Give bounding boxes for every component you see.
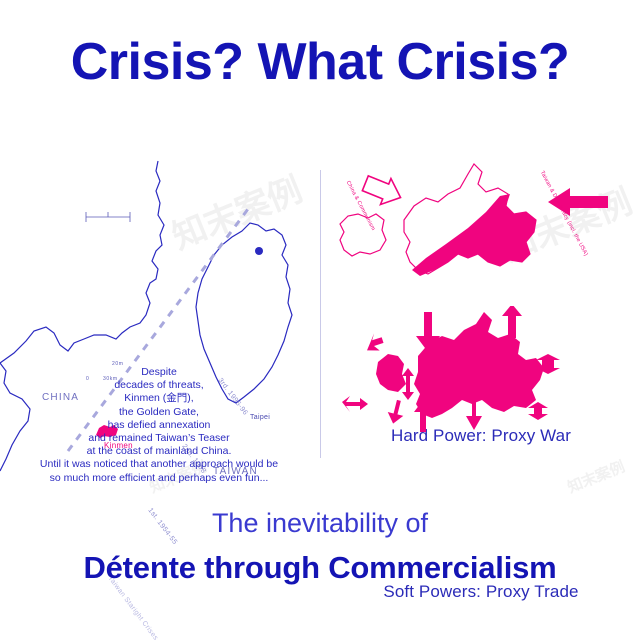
- soft-power-diagram: [322, 306, 640, 438]
- blurb-line: at the coast of mainland China.: [0, 445, 318, 458]
- blurb-line: so much more efficient and perhaps even …: [0, 472, 318, 485]
- small-islet-filled: [376, 354, 406, 392]
- map-blurb: Despite decades of threats, Kinmen (金門),…: [0, 366, 318, 485]
- footer-subtitle: The inevitability of: [0, 508, 640, 539]
- blurb-line: has defied annexation: [0, 419, 318, 432]
- china-coastline: [0, 161, 164, 363]
- taipei-marker: [255, 247, 263, 255]
- kinmen-filled: [414, 312, 544, 418]
- blurb-line: Until it was noticed that another approa…: [0, 458, 318, 471]
- blurb-line: Kinmen (金門),: [0, 392, 318, 405]
- small-islet-outline: [340, 214, 386, 256]
- arrow-left-outline: [360, 170, 406, 210]
- hard-power-diagram: China & Communism Taiwan & Democracy (in…: [322, 158, 640, 290]
- panel-divider: [320, 170, 321, 458]
- blurb-line: Despite: [0, 366, 318, 379]
- blurb-line: and remained Taiwan’s Teaser: [0, 432, 318, 445]
- page-title: Crisis? What Crisis?: [0, 36, 640, 88]
- soft-power-graphic: [322, 306, 640, 438]
- map-scale-bar: [86, 212, 130, 222]
- blurb-line: the Golden Gate,: [0, 406, 318, 419]
- footer-headline: Détente through Commercialism: [0, 550, 640, 586]
- blurb-line: decades of threats,: [0, 379, 318, 392]
- contested-fill: [412, 194, 536, 276]
- infographic-canvas: Crisis? What Crisis? 知末案例 知末案例 知末案例 知末案例: [0, 0, 640, 640]
- power-diagrams: China & Communism Taiwan & Democracy (in…: [322, 158, 640, 478]
